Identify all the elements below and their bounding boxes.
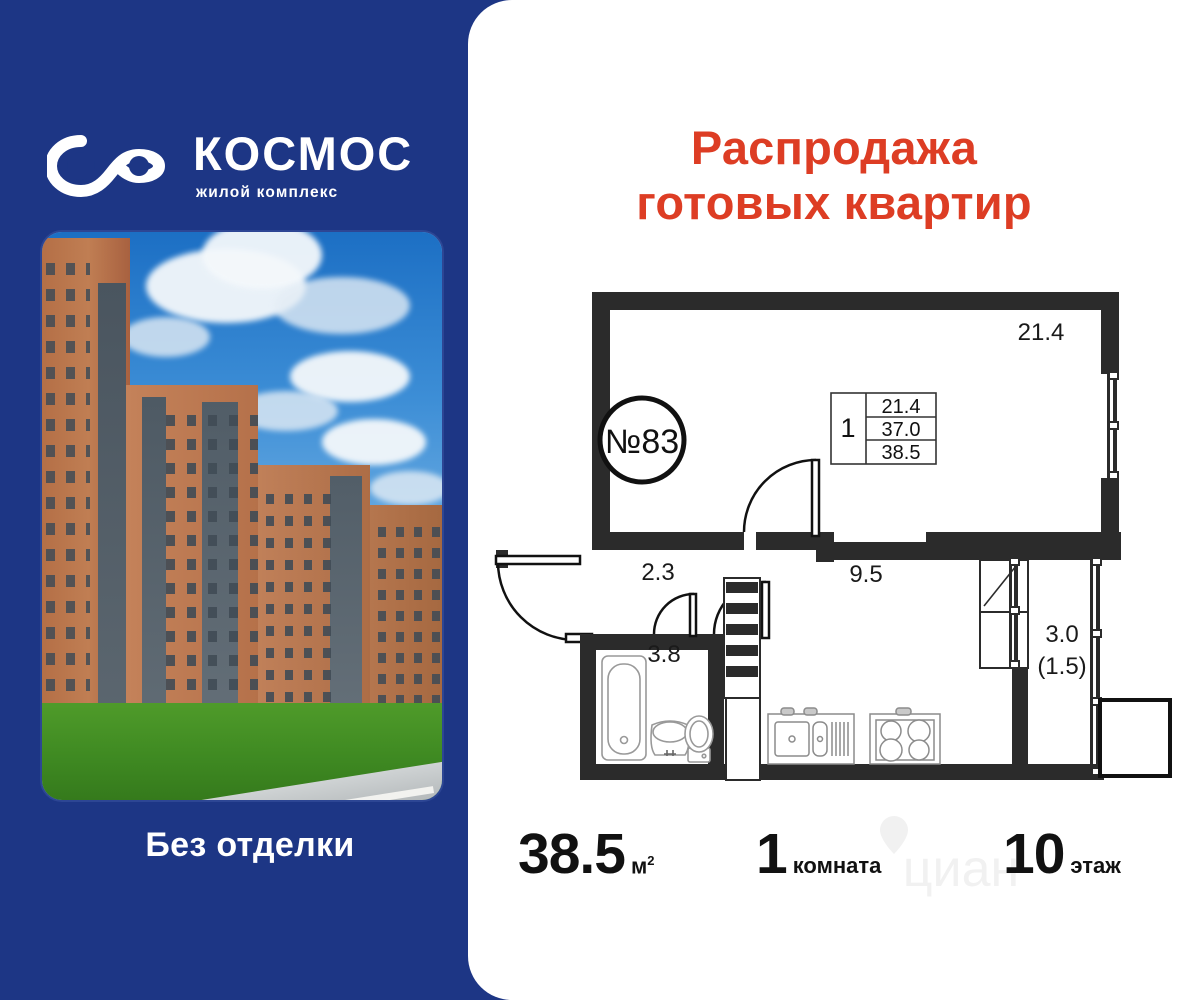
room-area-kitchen: 9.5 xyxy=(849,561,882,588)
badge-value-2: 38.5 xyxy=(882,442,921,464)
brand-title: КОСМОС xyxy=(193,130,413,177)
finish-caption: Без отделки xyxy=(0,826,500,865)
stat-rooms-value: 1 xyxy=(756,826,787,883)
door-entry xyxy=(498,562,576,640)
sink-icon xyxy=(651,721,689,756)
door-bathroom xyxy=(654,594,694,634)
bathtub-icon xyxy=(602,656,646,760)
stove-icon xyxy=(870,708,940,764)
building-photo xyxy=(40,230,444,802)
room-area-bathroom: 3.8 xyxy=(647,641,680,668)
closet-shelves xyxy=(724,578,760,698)
page-title: Распродажа готовых квартир xyxy=(468,120,1200,231)
svg-text:№83: №83 xyxy=(605,423,679,461)
stat-floor-value: 10 xyxy=(1003,826,1064,883)
floor-plan: 21.4 №83 1 21.4 37.0 xyxy=(468,270,1200,790)
poster-root: КОСМОС жилой комплекс xyxy=(0,0,1200,1000)
summary-stats: 38.5 м2 1 комната 10 этаж xyxy=(468,812,1200,892)
kitchen-sink-icon xyxy=(768,708,854,764)
headline-line-1: Распродажа xyxy=(468,120,1200,175)
badge-room-count: 1 xyxy=(840,413,855,443)
room-area-living: 21.4 xyxy=(1018,319,1065,346)
badge-value-0: 21.4 xyxy=(882,396,921,418)
toilet-icon xyxy=(685,716,713,762)
apartment-number-badge: №83 xyxy=(600,398,684,482)
room-area-balcony-reduced: (1.5) xyxy=(1037,653,1086,680)
balcony-door xyxy=(980,558,1028,668)
stat-floor: 10 этаж xyxy=(1003,826,1121,883)
room-area-balcony: 3.0 xyxy=(1045,621,1078,648)
brand-subtitle: жилой комплекс xyxy=(196,184,338,202)
headline-line-2: готовых квартир xyxy=(468,175,1200,230)
stat-area-value: 38.5 xyxy=(518,826,625,883)
stat-rooms-label: комната xyxy=(793,853,882,879)
badge-value-1: 37.0 xyxy=(882,419,921,441)
left-blue-panel: КОСМОС жилой комплекс xyxy=(0,0,500,1000)
window-living-room xyxy=(1101,372,1119,479)
stat-floor-label: этаж xyxy=(1070,853,1120,879)
infinity-icon xyxy=(47,135,175,197)
floor-plan-svg: 21.4 №83 1 21.4 37.0 xyxy=(468,270,1200,790)
stat-rooms: 1 комната xyxy=(756,826,881,883)
right-white-panel: Распродажа готовых квартир xyxy=(468,0,1200,1000)
brand-logo: КОСМОС жилой комплекс xyxy=(47,123,447,209)
stat-area-unit: м2 xyxy=(631,853,655,879)
stat-area: 38.5 м2 xyxy=(518,826,654,883)
room-area-hallway: 2.3 xyxy=(641,559,674,586)
